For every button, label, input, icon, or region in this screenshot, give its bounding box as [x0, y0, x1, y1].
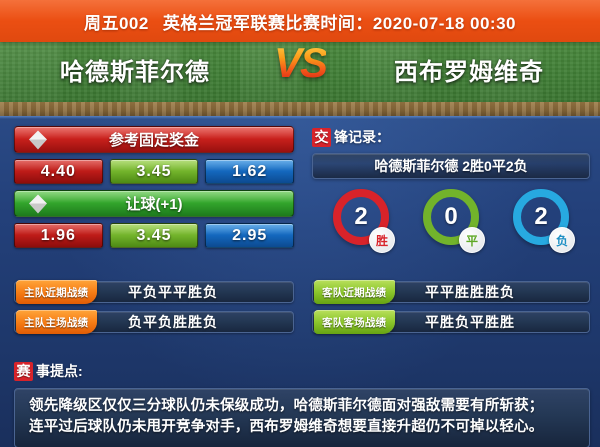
fixed-odds-title: 参考固定奖金: [109, 129, 199, 150]
h2h-stat-circles: 2 胜 0 平 2 负: [312, 189, 590, 245]
pitch-dirt-strip: [0, 102, 600, 116]
odds-fixed-win[interactable]: 4.40: [14, 159, 103, 184]
lose-count: 2: [534, 205, 547, 229]
home-home-form-row: 负平负胜胜负 主队主场战绩: [14, 311, 294, 333]
win-tag: 胜: [369, 227, 395, 253]
tips-title-badge: 赛: [14, 362, 33, 381]
home-recent-form-row: 平负平平胜负 主队近期战绩: [14, 281, 294, 303]
home-team-name: 哈德斯菲尔德: [60, 52, 210, 87]
handicap-title: 让球(+1): [125, 193, 182, 214]
tips-line-2: 连平过后球队仍未甩开竞争对手，西布罗姆维奇想要直接升超仍不可掉以轻心。: [29, 417, 577, 438]
match-preview-graphic: 哈德斯菲尔德 VS 西布罗姆维奇 周五002英格兰冠军联赛比赛时间：2020-0…: [0, 0, 600, 447]
away-recent-form-label: 客队近期战绩: [314, 280, 395, 304]
grass-background: 哈德斯菲尔德 VS 西布罗姆维奇: [0, 34, 600, 116]
away-recent-form-value: 平平胜胜胜负: [425, 282, 515, 302]
home-form-block: 平负平平胜负 主队近期战绩 负平负胜胜负 主队主场战绩: [14, 281, 294, 341]
handicap-title-bar: 让球(+1): [14, 190, 294, 217]
odds-section: 参考固定奖金 4.40 3.45 1.62 让球(+1) 1.96 3.45 2…: [14, 126, 294, 248]
odds-fixed-draw[interactable]: 3.45: [110, 159, 199, 184]
main-panel: 参考固定奖金 4.40 3.45 1.62 让球(+1) 1.96 3.45 2…: [0, 116, 600, 447]
diamond-icon: [29, 194, 48, 213]
diamond-icon: [29, 130, 48, 149]
h2h-title-text: 锋记录：: [334, 127, 390, 147]
handicap-odds-row: 1.96 3.45 2.95: [14, 223, 294, 248]
h2h-title-badge: 交: [312, 128, 331, 147]
away-away-form-label: 客队客场战绩: [314, 310, 395, 334]
h2h-summary: 哈德斯菲尔德 2胜0平2负: [312, 153, 590, 179]
header-title: 周五002英格兰冠军联赛比赛时间：2020-07-18 00:30: [84, 9, 516, 34]
win-count: 2: [354, 205, 367, 229]
h2h-section: 交 锋记录： 哈德斯菲尔德 2胜0平2负 2 胜 0 平: [312, 126, 590, 245]
home-recent-form-value: 平负平平胜负: [128, 282, 218, 302]
tips-title: 赛 事提点:: [14, 360, 590, 382]
away-away-form-value: 平胜负平胜胜: [425, 312, 515, 332]
tips-body: 领先降级区仅仅三分球队仍未保级成功，哈德斯菲尔德面对强敌需要有所斩获； 连平过后…: [14, 388, 590, 447]
league-and-time: 英格兰冠军联赛比赛时间：2020-07-18 00:30: [163, 14, 516, 33]
h2h-stat-win: 2 胜: [333, 189, 389, 245]
home-home-form-label: 主队主场战绩: [16, 310, 97, 334]
away-recent-form-row: 平平胜胜胜负 客队近期战绩: [312, 281, 590, 303]
away-form-block: 平平胜胜胜负 客队近期战绩 平胜负平胜胜 客队客场战绩: [312, 281, 590, 341]
fixed-odds-row: 4.40 3.45 1.62: [14, 159, 294, 184]
odds-handicap-draw[interactable]: 3.45: [110, 223, 199, 248]
vs-icon: VS: [274, 42, 326, 84]
lose-tag: 负: [549, 227, 575, 253]
odds-handicap-lose[interactable]: 2.95: [205, 223, 294, 248]
h2h-stat-draw: 0 平: [423, 189, 479, 245]
tips-line-1: 领先降级区仅仅三分球队仍未保级成功，哈德斯菲尔德面对强敌需要有所斩获；: [29, 396, 577, 417]
h2h-title: 交 锋记录：: [312, 126, 590, 148]
fixed-odds-title-bar: 参考固定奖金: [14, 126, 294, 153]
odds-handicap-win[interactable]: 1.96: [14, 223, 103, 248]
home-home-form-value: 负平负胜胜负: [128, 312, 218, 332]
draw-tag: 平: [459, 227, 485, 253]
away-away-form-row: 平胜负平胜胜 客队客场战绩: [312, 311, 590, 333]
tips-title-text: 事提点:: [36, 361, 83, 381]
home-recent-form-label: 主队近期战绩: [16, 280, 97, 304]
h2h-stat-lose: 2 负: [513, 189, 569, 245]
odds-fixed-lose[interactable]: 1.62: [205, 159, 294, 184]
away-team-name: 西布罗姆维奇: [394, 52, 544, 87]
match-number: 周五002: [84, 14, 149, 33]
draw-count: 0: [444, 205, 457, 229]
tips-section: 赛 事提点: 领先降级区仅仅三分球队仍未保级成功，哈德斯菲尔德面对强敌需要有所斩…: [14, 360, 590, 447]
header-bar: 周五002英格兰冠军联赛比赛时间：2020-07-18 00:30: [0, 0, 600, 42]
